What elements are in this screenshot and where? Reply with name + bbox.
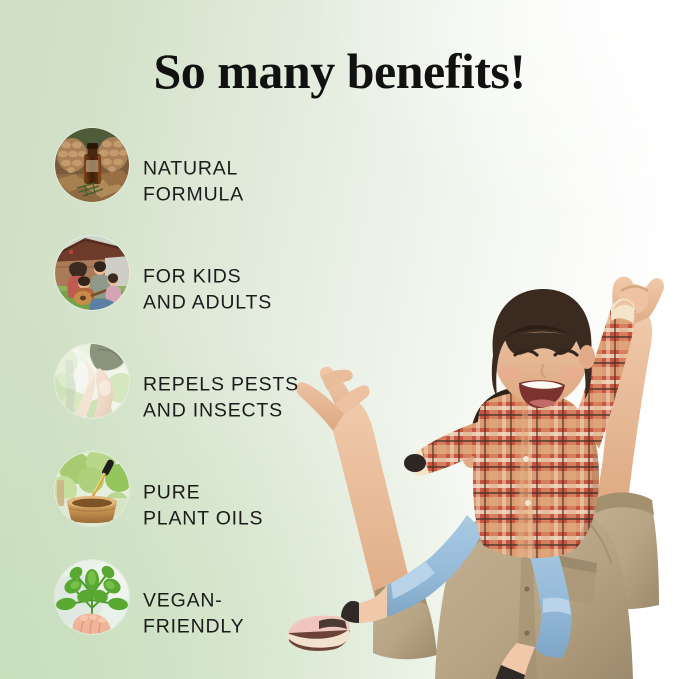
hand-holding-green-plant-photo	[55, 560, 129, 634]
benefits-list: NATURAL FORMULA	[55, 128, 355, 668]
benefit-label: FOR KIDS AND ADULTS	[143, 264, 272, 315]
benefit-item-vegan-friendly: VEGAN- FRIENDLY	[55, 560, 355, 668]
benefits-poster: So many benefits!	[0, 0, 679, 679]
benefit-label: NATURAL FORMULA	[143, 156, 244, 207]
benefit-item-repels-pests-and-insects: REPELS PESTS AND INSECTS	[55, 344, 355, 452]
pine-cones-essential-oil-bottle-photo	[55, 128, 129, 202]
dropper-pipette-wooden-bowl-photo	[55, 452, 129, 526]
benefit-label: REPELS PESTS AND INSECTS	[143, 372, 299, 423]
legs-walking-in-nature-photo	[55, 344, 129, 418]
benefit-label: VEGAN- FRIENDLY	[143, 588, 244, 639]
page-title: So many benefits!	[0, 42, 679, 100]
benefit-item-for-kids-and-adults: FOR KIDS AND ADULTS	[55, 236, 355, 344]
benefit-item-natural-formula: NATURAL FORMULA	[55, 128, 355, 236]
benefit-label: PURE PLANT OILS	[143, 480, 263, 531]
benefit-item-pure-plant-oils: PURE PLANT OILS	[55, 452, 355, 560]
family-outdoors-cabin-photo	[55, 236, 129, 310]
